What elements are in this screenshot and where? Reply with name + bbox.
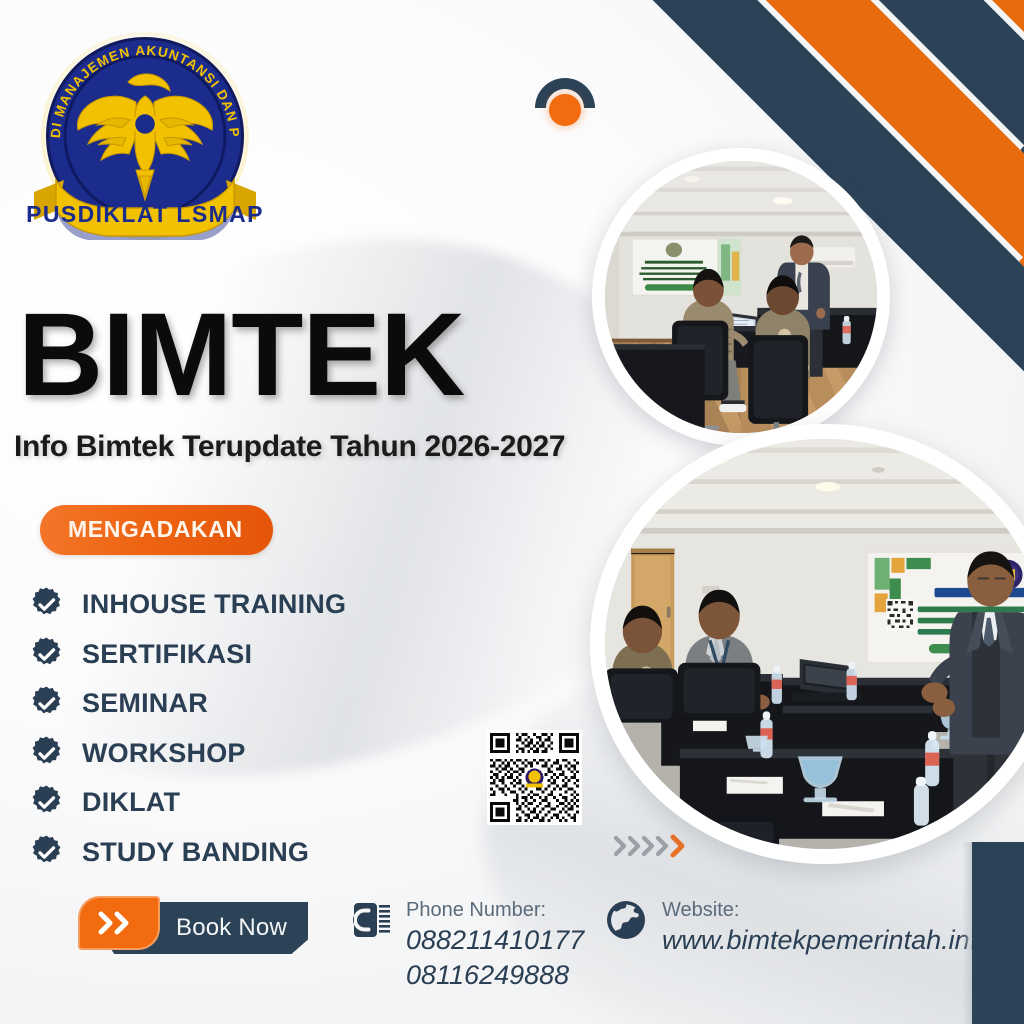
phone-value-1[interactable]: 088211410177 (406, 925, 584, 955)
check-badge-icon (28, 784, 65, 821)
services-list: INHOUSE TRAINING SERTIFIKASI SEMINAR WOR… (28, 580, 548, 877)
phone-value-2[interactable]: 08116249888 (406, 960, 569, 990)
check-badge-icon (28, 735, 65, 772)
poster-canvas: LEMBAGA STUDI MANAJEMEN AKUNTANSI DAN PE… (0, 0, 1024, 1024)
svg-text:PUSDIKLAT LSMAP: PUSDIKLAT LSMAP (26, 201, 264, 227)
chevron-arrows-right-icon (612, 832, 694, 860)
check-badge-icon (28, 586, 65, 623)
website-value[interactable]: www.bimtekpemerintah.info (662, 925, 992, 955)
page-title: BIMTEK (18, 296, 464, 414)
contact-website[interactable]: Website: www.bimtekpemerintah.info (604, 898, 992, 958)
service-label: SEMINAR (82, 688, 208, 719)
right-edge-bar (972, 842, 1024, 1024)
check-badge-icon (28, 636, 65, 673)
training-room-photo-bottom (590, 424, 1024, 864)
list-item: DIKLAT (28, 778, 548, 828)
qr-code-icon[interactable] (487, 730, 582, 825)
phone-icon (352, 898, 392, 942)
service-label: INHOUSE TRAINING (82, 589, 346, 620)
list-item: INHOUSE TRAINING (28, 580, 548, 630)
book-now-label: Book Now (176, 914, 287, 942)
page-subtitle: Info Bimtek Terupdate Tahun 2026-2027 (14, 430, 565, 464)
contact-phone[interactable]: Phone Number: 088211410177 08116249888 (352, 898, 584, 993)
service-label: DIKLAT (82, 787, 180, 818)
service-label: SERTIFIKASI (82, 639, 252, 670)
check-badge-icon (28, 834, 65, 871)
edge-bar-highlight (962, 842, 972, 1024)
service-label: WORKSHOP (82, 738, 246, 769)
double-chevron-right-icon (78, 896, 160, 950)
list-item: STUDY BANDING (28, 828, 548, 878)
training-room-photo-top (592, 148, 890, 446)
list-item: SERTIFIKASI (28, 630, 548, 680)
globe-icon (604, 898, 648, 942)
service-label: STUDY BANDING (82, 837, 309, 868)
list-item: SEMINAR (28, 679, 548, 729)
arch-with-dot-icon (535, 78, 595, 126)
phone-label: Phone Number: (406, 899, 546, 921)
book-now-button[interactable]: Book Now (78, 896, 308, 958)
mengadakan-badge: MENGADAKAN (40, 505, 273, 555)
list-item: WORKSHOP (28, 729, 548, 779)
pusdiklat-lsmap-logo: LEMBAGA STUDI MANAJEMEN AKUNTANSI DAN PE… (18, 24, 272, 249)
website-label: Website: (662, 899, 739, 921)
check-badge-icon (28, 685, 65, 722)
